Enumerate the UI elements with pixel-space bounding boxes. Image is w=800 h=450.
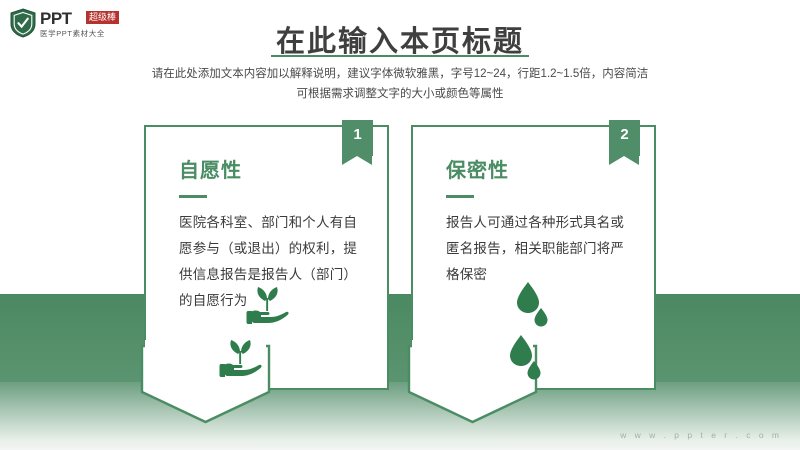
- slide: PPT 超级棒 医学PPT素材大全 在此输入本页标题 请在此处添加文本内容加以解…: [0, 0, 800, 450]
- watermark: w w w . p p t e r . c o m: [620, 430, 782, 440]
- card-1-ribbon-tail: [342, 156, 372, 165]
- card-2-body: 报告人可通过各种形式具名或匿名报告，相关职能部门将严格保密: [446, 210, 628, 288]
- card-2-ribbon-tail: [609, 156, 639, 165]
- subtitle-line-2: 可根据需求调整文字的大小或颜色等属性: [0, 84, 800, 104]
- title-underline: [271, 55, 529, 57]
- card-2-heading: 保密性: [446, 154, 509, 183]
- card-2-number: 2: [609, 126, 640, 143]
- card-2-ribbon: 2: [609, 120, 640, 164]
- card-2[interactable]: 2 保密性 报告人可通过各种形式具名或匿名报告，相关职能部门将严格保密: [411, 125, 656, 390]
- card-1-number: 1: [342, 126, 373, 143]
- plant-in-hand-icon: [146, 285, 387, 336]
- card-1-ribbon: 1: [342, 120, 373, 164]
- card-1-heading-rule: [179, 195, 207, 198]
- page-subtitle: 请在此处添加文本内容加以解释说明，建议字体微软雅黑，字号12~24，行距1.2~…: [0, 64, 800, 104]
- subtitle-line-1: 请在此处添加文本内容加以解释说明，建议字体微软雅黑，字号12~24，行距1.2~…: [0, 64, 800, 84]
- water-drops-icon: [413, 281, 654, 336]
- card-1-heading: 自愿性: [179, 154, 242, 183]
- card-1[interactable]: 1 自愿性 医院各科室、部门和个人有自愿参与（或退出）的权利，提供信息报告是报告…: [144, 125, 389, 390]
- page-title: 在此输入本页标题: [0, 18, 800, 60]
- background-band-dark: [0, 294, 800, 382]
- card-2-heading-rule: [446, 195, 474, 198]
